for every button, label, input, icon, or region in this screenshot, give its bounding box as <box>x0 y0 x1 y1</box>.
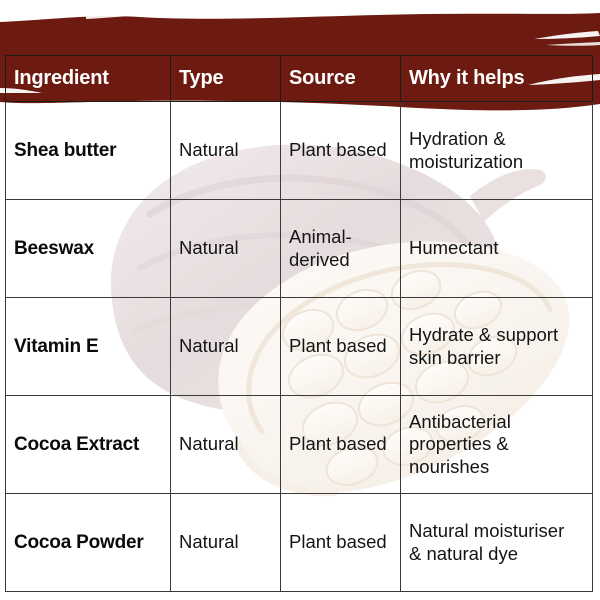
cell-ingredient: Shea butter <box>6 102 171 200</box>
table-header-row: Ingredient Type Source Why it helps <box>6 56 593 102</box>
cell-why-line: Antibacterial <box>409 411 584 434</box>
cell-why: Natural moisturiser & natural dye <box>401 494 593 592</box>
ingredient-table: Ingredient Type Source Why it helps Shea… <box>5 55 593 592</box>
cell-why: Hydration & moisturization <box>401 102 593 200</box>
cell-type: Natural <box>171 494 281 592</box>
table-row: Cocoa Extract Natural Plant based Antiba… <box>6 396 593 494</box>
cell-why-line: Hydrate & support <box>409 324 584 347</box>
cell-source: Plant based <box>281 102 401 200</box>
column-header-ingredient: Ingredient <box>6 56 171 102</box>
cell-source: Animal- derived <box>281 200 401 298</box>
cell-type: Natural <box>171 298 281 396</box>
cell-type: Natural <box>171 396 281 494</box>
column-header-why: Why it helps <box>401 56 593 102</box>
cell-ingredient: Beeswax <box>6 200 171 298</box>
cell-ingredient: Cocoa Powder <box>6 494 171 592</box>
cell-why-line: & natural dye <box>409 543 584 566</box>
cell-ingredient: Vitamin E <box>6 298 171 396</box>
table-row: Shea butter Natural Plant based Hydratio… <box>6 102 593 200</box>
cell-source: Plant based <box>281 298 401 396</box>
cell-ingredient: Cocoa Extract <box>6 396 171 494</box>
cell-source-line: derived <box>289 249 392 272</box>
table-body: Shea butter Natural Plant based Hydratio… <box>6 102 593 592</box>
cell-type: Natural <box>171 102 281 200</box>
cell-why-line: moisturization <box>409 151 584 174</box>
document-canvas: Ingredient Type Source Why it helps Shea… <box>0 0 600 600</box>
cell-source: Plant based <box>281 396 401 494</box>
column-header-type: Type <box>171 56 281 102</box>
table-header: Ingredient Type Source Why it helps <box>6 56 593 102</box>
table-row: Vitamin E Natural Plant based Hydrate & … <box>6 298 593 396</box>
cell-why: Humectant <box>401 200 593 298</box>
table-row: Cocoa Powder Natural Plant based Natural… <box>6 494 593 592</box>
cell-why: Antibacterial properties & nourishes <box>401 396 593 494</box>
cell-source-line: Animal- <box>289 226 392 249</box>
cell-why-line: skin barrier <box>409 347 584 370</box>
cell-why-line: properties & <box>409 433 584 456</box>
cell-type: Natural <box>171 200 281 298</box>
table-row: Beeswax Natural Animal- derived Humectan… <box>6 200 593 298</box>
cell-source: Plant based <box>281 494 401 592</box>
column-header-source: Source <box>281 56 401 102</box>
cell-why-line: Natural moisturiser <box>409 520 584 543</box>
cell-why: Hydrate & support skin barrier <box>401 298 593 396</box>
cell-why-line: nourishes <box>409 456 584 479</box>
cell-why-line: Humectant <box>409 237 584 260</box>
cell-why-line: Hydration & <box>409 128 584 151</box>
